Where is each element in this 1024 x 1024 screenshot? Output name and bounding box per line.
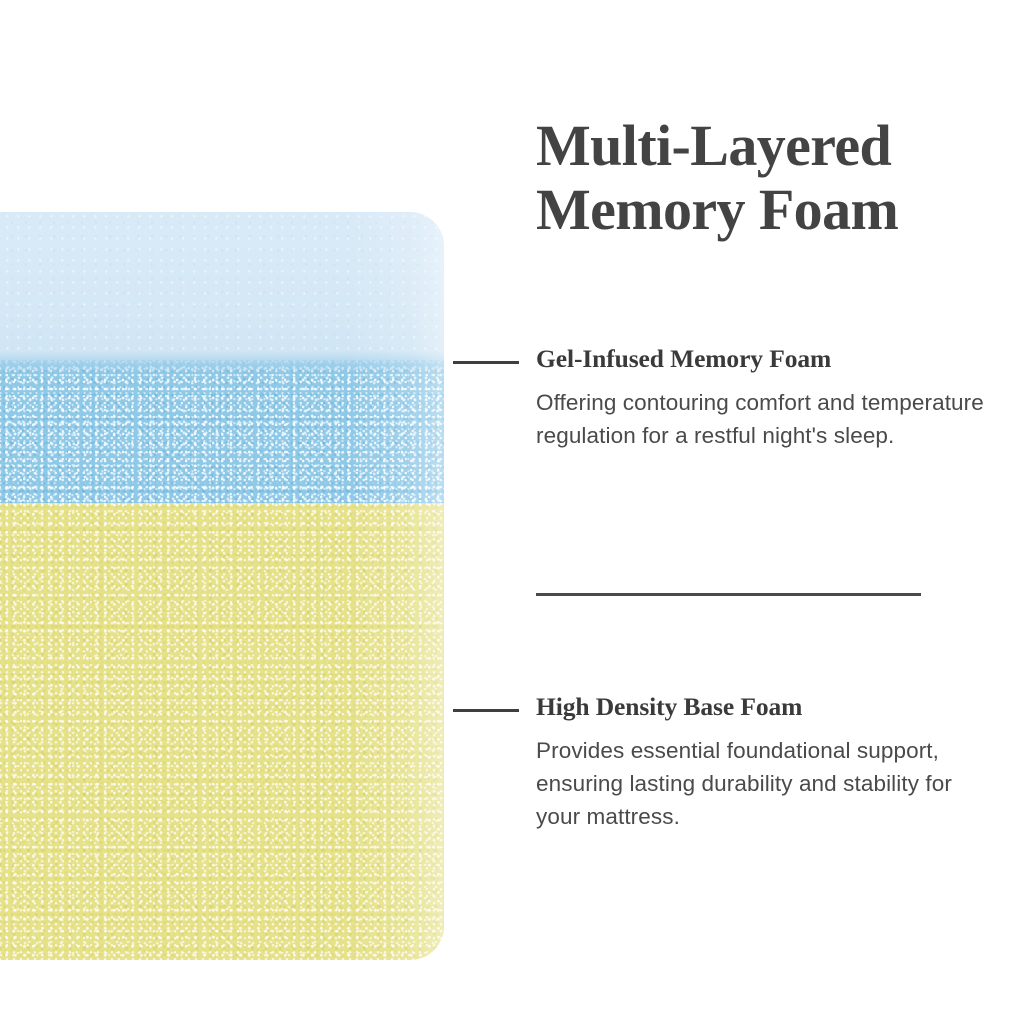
section-heading-gel-foam: Gel-Infused Memory Foam <box>536 344 1002 375</box>
gel-foam-texture <box>0 360 444 503</box>
section-body-text-gel-foam: Offering contouring comfort and temperat… <box>536 386 1002 453</box>
section-high-density-base-foam: High Density Base Foam Provides essentia… <box>536 692 1002 833</box>
gel-infused-memory-foam-layer <box>0 360 444 503</box>
product-infographic: Multi-Layered Memory Foam Gel-Infused Me… <box>0 0 1024 1024</box>
high-density-base-foam-layer <box>0 503 444 960</box>
base-foam-texture <box>0 503 444 960</box>
section-body-gel-foam: Offering contouring comfort and temperat… <box>536 386 1002 453</box>
section-gel-infused-memory-foam: Gel-Infused Memory Foam Offering contour… <box>536 344 1002 452</box>
cover-gel-blend-band <box>0 350 444 372</box>
section-heading-base-foam: High Density Base Foam <box>536 692 1002 723</box>
mattress-foam-block-illustration <box>0 212 444 960</box>
content-column: Multi-Layered Memory Foam Gel-Infused Me… <box>536 0 1004 1024</box>
page-title: Multi-Layered Memory Foam <box>536 114 996 242</box>
section-body-text-base-foam: Provides essential foundational support,… <box>536 734 1002 834</box>
leader-line-base-foam <box>453 709 519 712</box>
leader-line-gel-foam <box>453 361 519 364</box>
section-body-base-foam: Provides essential foundational support,… <box>536 734 1002 834</box>
cover-layer-texture <box>0 212 444 362</box>
cover-layer <box>0 212 444 362</box>
